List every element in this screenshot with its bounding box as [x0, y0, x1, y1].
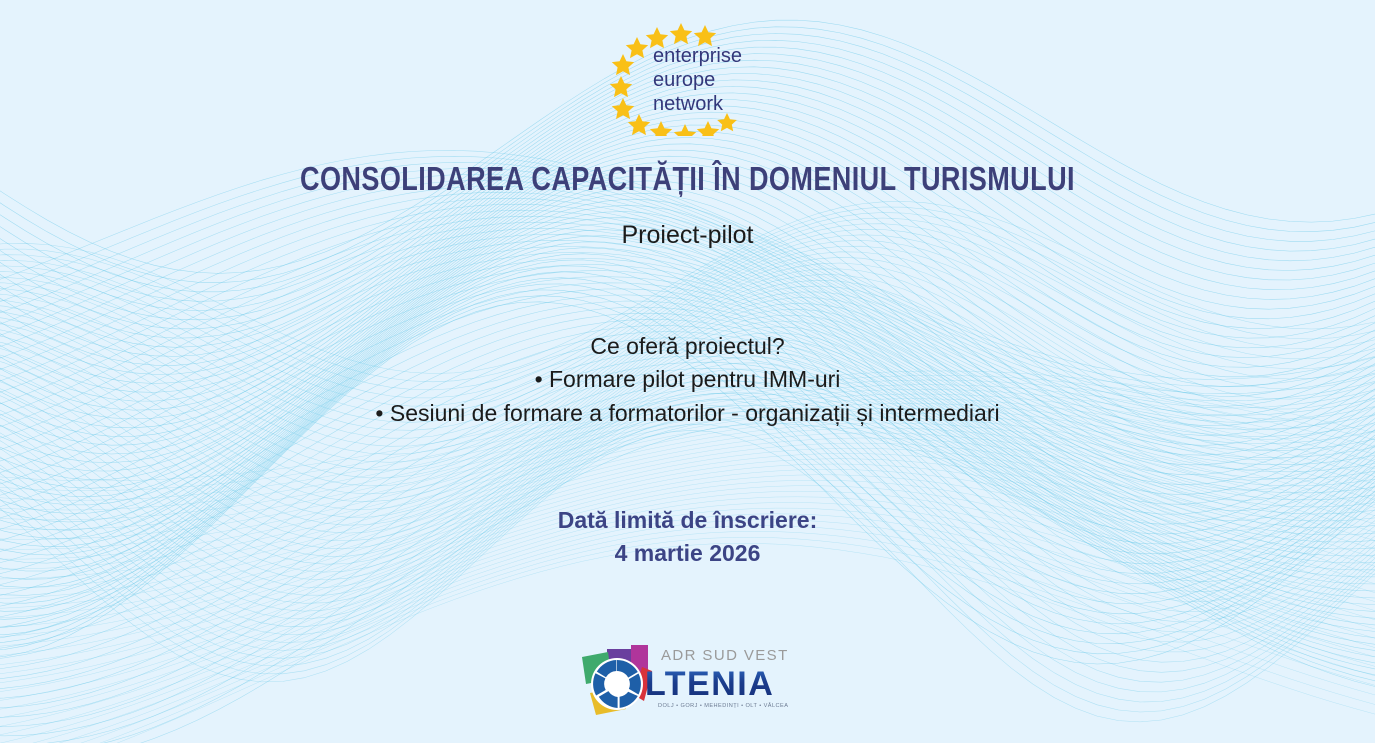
- deadline-block: Dată limită de înscriere: 4 martie 2026: [0, 504, 1375, 571]
- adr-counties-text: DOLJ • GORJ • MEHEDINȚI • OLT • VÂLCEA: [658, 702, 788, 709]
- een-line-1: enterprise: [653, 45, 742, 67]
- poster-canvas: enterprise europe network CONSOLIDAREA C…: [0, 0, 1375, 743]
- enterprise-europe-network-logo: enterprise europe network: [593, 18, 783, 136]
- een-wordmark: enterprise europe network: [653, 45, 742, 115]
- een-line-2: europe: [653, 69, 715, 91]
- offer-item: • Formare pilot pentru IMM-uri: [0, 363, 1375, 396]
- adr-main-text: LTENIA: [645, 665, 774, 703]
- page-subtitle: Proiect-pilot: [0, 220, 1375, 250]
- adr-top-text: ADR SUD VEST: [661, 647, 789, 664]
- adr-pinwheel-mark-icon: [582, 645, 652, 715]
- offer-item: • Sesiuni de formare a formatorilor - or…: [0, 397, 1375, 430]
- een-line-3: network: [653, 93, 724, 115]
- page-title: CONSOLIDAREA CAPACITĂȚII ÎN DOMENIUL TUR…: [124, 160, 1252, 198]
- deadline-date: 4 martie 2026: [0, 537, 1375, 570]
- offer-lead-question: Ce oferă proiectul?: [0, 330, 1375, 363]
- offer-block: Ce oferă proiectul? • Formare pilot pent…: [0, 330, 1375, 430]
- adr-sud-vest-oltenia-logo: ADR SUD VEST LTENIA DOLJ • GORJ • MEHEDI…: [572, 643, 804, 721]
- headline-block: CONSOLIDAREA CAPACITĂȚII ÎN DOMENIUL TUR…: [0, 160, 1375, 250]
- deadline-label: Dată limită de înscriere:: [0, 504, 1375, 537]
